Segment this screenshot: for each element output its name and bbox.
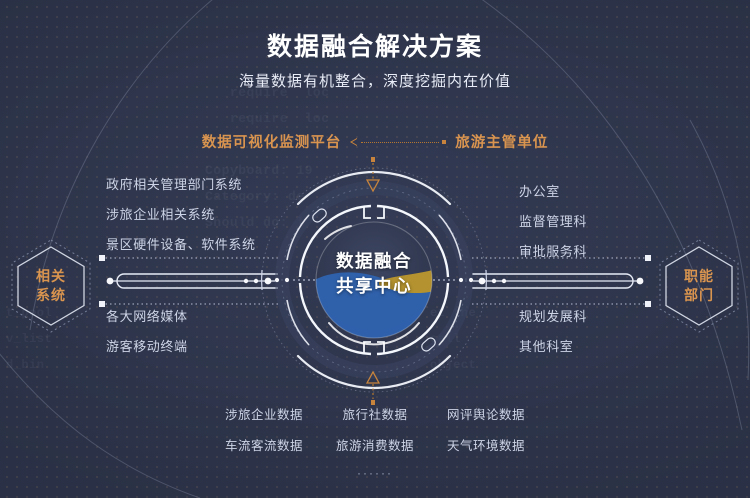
center-rings [259,165,489,395]
data-sources-grid: 涉旅企业数据 旅行社数据 网评舆论数据 车流客流数据 旅游消费数据 天气环境数据… [225,404,525,480]
top-label-row: 数据可视化监测平台 旅游主管单位 [0,131,750,152]
hexagon-left-label: 相关 系统 [8,238,94,334]
list-item[interactable]: 其他科室 [519,336,587,355]
center-hub: 数据融合 共享中心 [259,165,489,395]
list-item[interactable]: 审批服务科 [519,241,587,260]
diagram-canvas: require loc require loc Copyboard: 19 Ca… [0,0,750,498]
label-tourism-authority[interactable]: 旅游主管单位 [455,131,548,152]
arrow-left-dotted-icon [350,136,446,148]
list-item[interactable]: 游客移动终端 [106,336,188,355]
list-item[interactable]: 网评舆论数据 [447,404,525,423]
page-subtitle: 海量数据有机整合，深度挖掘内在价值 [0,70,750,91]
hexagon-related-systems[interactable]: 相关 系统 [8,238,94,334]
hex-left-line2: 系统 [36,286,66,305]
list-item[interactable]: 监督管理科 [519,211,587,230]
list-item[interactable]: 旅行社数据 [342,404,407,423]
sphere-fill [299,269,445,355]
list-item[interactable]: 涉旅企业数据 [225,404,303,423]
list-item[interactable]: 各大网络媒体 [106,306,188,325]
list-item[interactable]: 车流客流数据 [225,435,303,454]
arrow-dotted-line [361,142,439,143]
list-left-bottom: 各大网络媒体 游客移动终端 [106,306,188,366]
label-visualization-platform[interactable]: 数据可视化监测平台 [202,131,342,152]
list-item[interactable]: 办公室 [519,181,587,200]
list-item[interactable]: 旅游消费数据 [336,435,414,454]
hex-left-line1: 相关 [36,267,66,286]
list-item[interactable]: 涉旅企业相关系统 [106,204,256,223]
ellipsis-label: ······ [225,466,525,480]
arrow-up-dotted-icon [366,370,380,406]
data-sources-row: 涉旅企业数据 旅行社数据 网评舆论数据 [225,404,525,423]
list-right-bottom: 规划发展科 其他科室 [519,306,587,366]
list-item[interactable]: 景区硬件设备、软件系统 [106,234,256,253]
list-item[interactable]: 规划发展科 [519,306,587,325]
list-left-top: 政府相关管理部门系统 涉旅企业相关系统 景区硬件设备、软件系统 [106,174,256,264]
hex-right-line1: 职能 [684,267,714,286]
list-item[interactable]: 政府相关管理部门系统 [106,174,256,193]
page-title: 数据融合解决方案 [0,27,750,63]
hexagon-functional-departments[interactable]: 职能 部门 [656,238,742,334]
arrow-head-icon [350,138,357,146]
list-right-top: 办公室 监督管理科 审批服务科 [519,181,587,271]
hexagon-right-label: 职能 部门 [656,238,742,334]
arrow-down-dotted-icon [366,157,380,193]
arrow-end-dot [442,140,446,144]
data-sources-row: 车流客流数据 旅游消费数据 天气环境数据 [225,435,525,454]
hex-right-line2: 部门 [684,286,714,305]
list-item[interactable]: 天气环境数据 [447,435,525,454]
